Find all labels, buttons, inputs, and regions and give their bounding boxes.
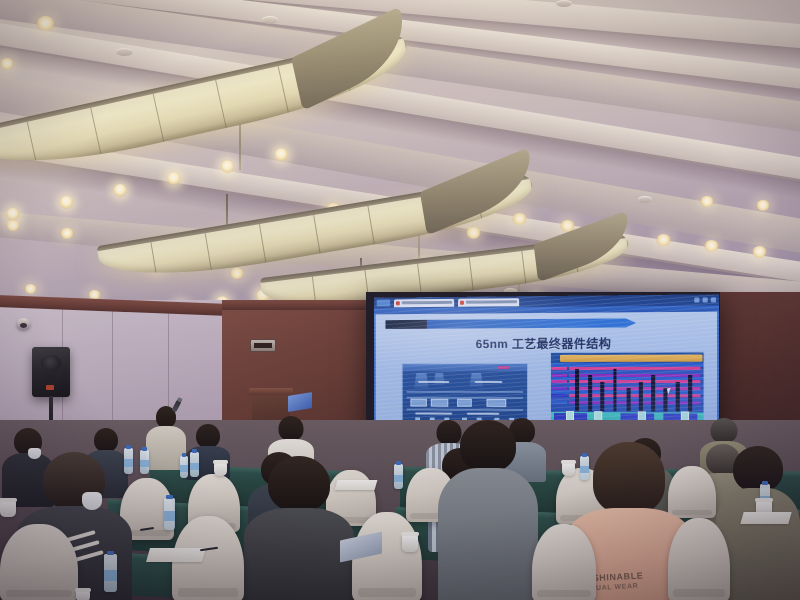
cup-lid (75, 588, 91, 592)
recessed-downlight (230, 268, 244, 279)
bottle-label (164, 511, 175, 521)
lidded-teacup[interactable] (0, 500, 16, 517)
bottled-water[interactable] (180, 456, 188, 478)
ceiling-sensor (638, 196, 652, 203)
bottled-water[interactable] (104, 554, 117, 592)
torso (438, 468, 538, 600)
ceiling-speaker-grille (116, 48, 133, 56)
recessed-downlight (466, 227, 481, 239)
notepad-sheet[interactable] (146, 548, 206, 562)
bottled-water[interactable] (140, 450, 149, 474)
bottle-cap (192, 449, 197, 453)
notepad-sheet[interactable] (335, 480, 378, 490)
head (733, 446, 783, 492)
cup-lid (755, 498, 774, 502)
lidded-teacup[interactable] (214, 462, 227, 476)
speaker-driver (41, 355, 61, 371)
face-mask (82, 492, 102, 510)
bottle-label (140, 460, 149, 467)
bottle-label (124, 459, 133, 467)
cup-lid (401, 532, 420, 536)
conference-room-photo: 65nm 工艺最终器件结构 (0, 0, 800, 600)
banquet-chair (668, 518, 730, 600)
audience-member (244, 456, 354, 600)
cup-lid (561, 460, 576, 464)
bottle-cap (126, 445, 131, 449)
lidded-teacup[interactable] (562, 462, 575, 476)
bottled-water[interactable] (394, 464, 403, 489)
bottle-cap (142, 447, 147, 451)
cup-lid (213, 460, 228, 464)
bottle-cap (166, 495, 172, 499)
lectern-top (249, 388, 293, 395)
lidded-teacup[interactable] (76, 590, 90, 600)
bottled-water[interactable] (190, 452, 199, 477)
bottled-water[interactable] (124, 448, 133, 474)
recessed-downlight (36, 16, 55, 31)
banquet-chair (0, 524, 78, 600)
banquet-chair (532, 524, 596, 600)
bottle-label (104, 570, 117, 581)
recessed-downlight (752, 246, 767, 258)
speaker-badge (46, 385, 54, 390)
bottle-cap (582, 453, 587, 457)
notepad-sheet[interactable] (740, 512, 791, 524)
bottle-label (580, 466, 589, 473)
ceiling-vent (556, 0, 572, 7)
head (279, 416, 304, 441)
head (711, 418, 738, 443)
torso (244, 508, 354, 600)
pa-loudspeaker (32, 347, 70, 397)
head (268, 456, 330, 512)
ceiling-speaker-grille (262, 16, 278, 24)
bottle-cap (396, 461, 401, 465)
audience-member (438, 420, 538, 600)
recessed-downlight (704, 240, 719, 252)
bottle-label (394, 475, 403, 483)
recessed-downlight (24, 284, 37, 294)
head (94, 428, 118, 452)
recessed-downlight (60, 228, 74, 239)
room-sign (250, 339, 276, 352)
head (593, 442, 665, 514)
bottle-cap (762, 481, 768, 485)
dome-security-camera (17, 318, 30, 329)
cup-lid (0, 498, 17, 502)
bottle-cap (107, 551, 114, 555)
recessed-downlight (756, 200, 770, 211)
room-sign-plate (254, 343, 272, 348)
lidded-teacup[interactable] (402, 534, 418, 552)
bottle-label (180, 465, 188, 472)
bottled-water[interactable] (580, 456, 589, 480)
head (196, 424, 220, 448)
recessed-downlight (656, 234, 671, 246)
head (460, 420, 516, 472)
recessed-downlight (0, 58, 14, 70)
recessed-downlight (700, 196, 714, 207)
bottled-water[interactable] (164, 498, 175, 530)
bottle-label (190, 463, 199, 471)
bottle-cap (182, 453, 187, 457)
